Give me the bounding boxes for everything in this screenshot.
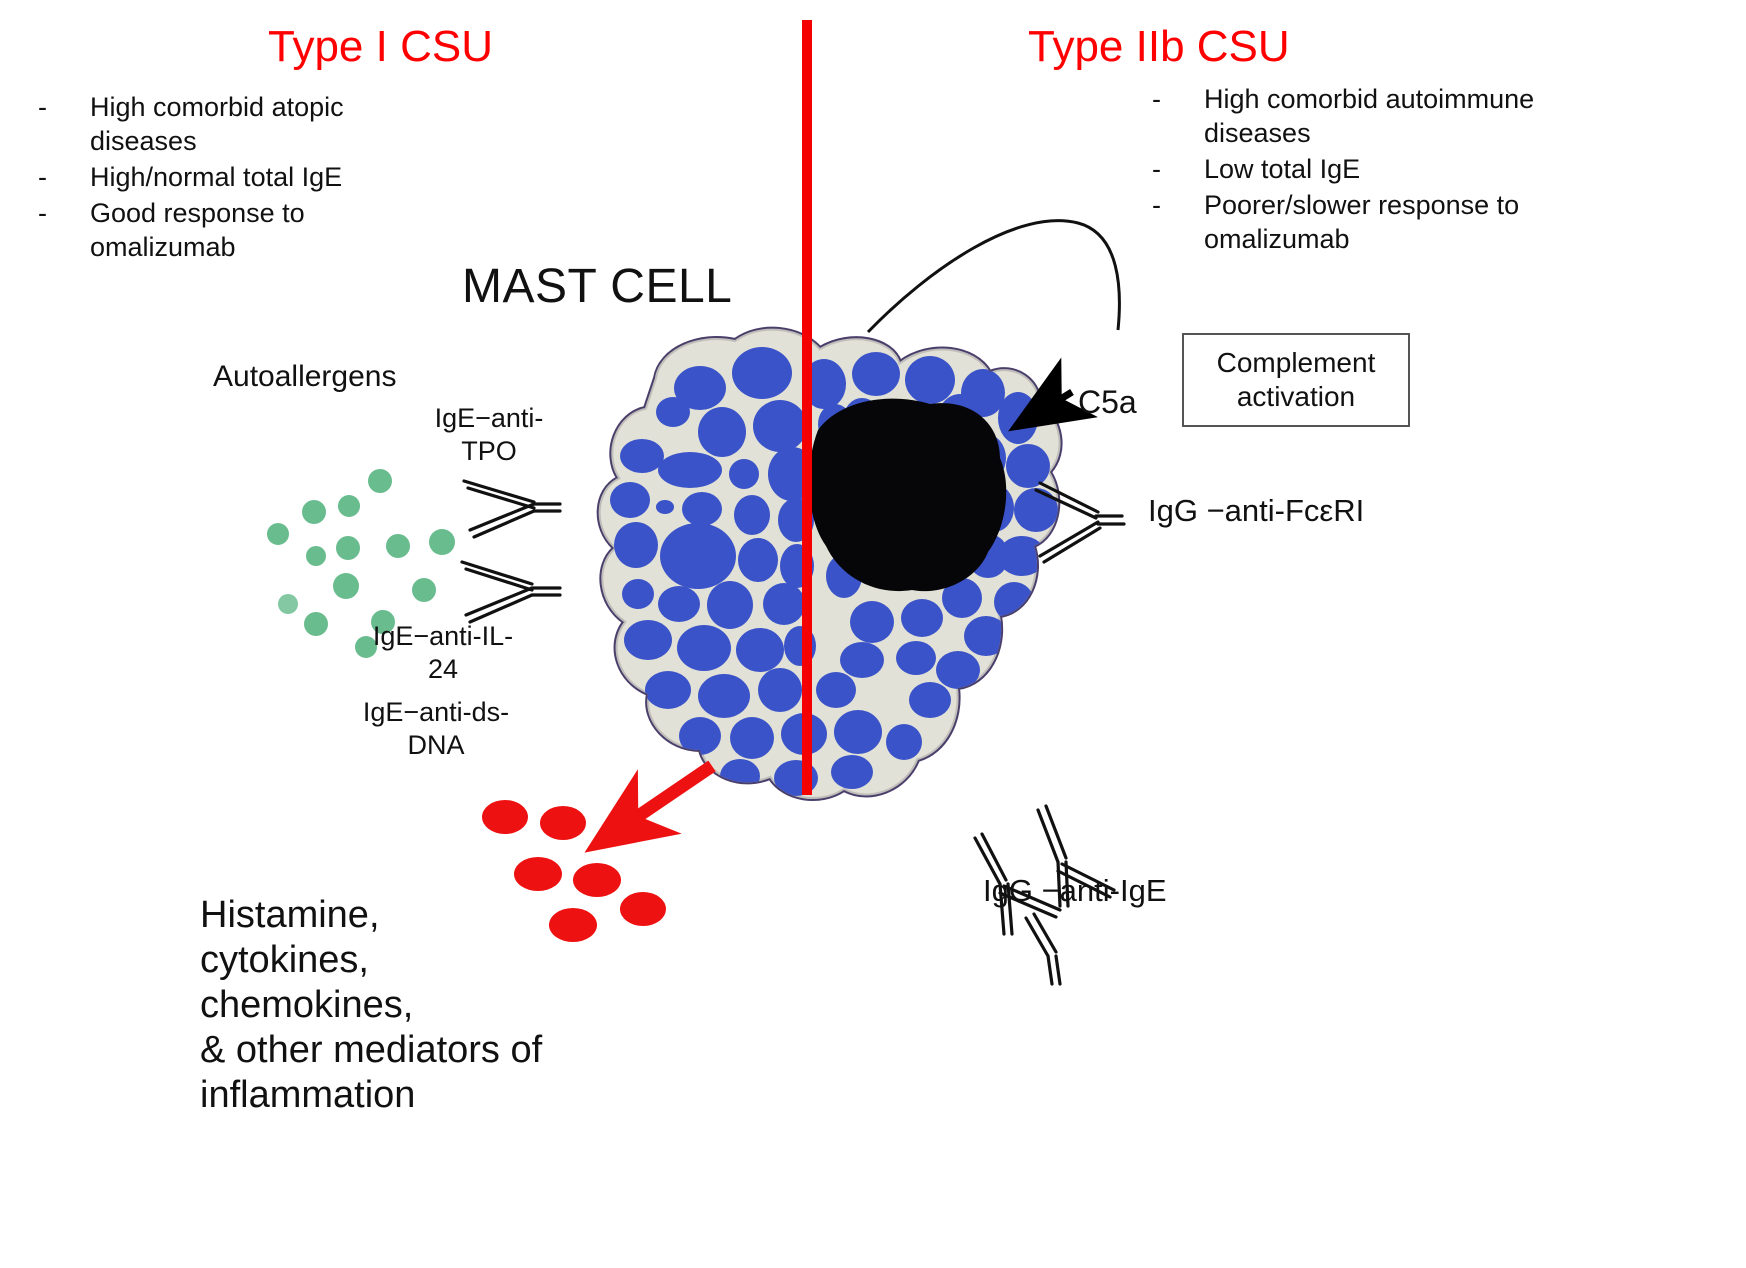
mast-cell-granules: [610, 347, 1058, 796]
bullet-marker: -: [38, 160, 90, 194]
list-item: - High comorbid autoimmune diseases: [1152, 82, 1572, 150]
type-1-csu-title: Type I CSU: [268, 22, 493, 72]
igg-anti-fceri-receptor: [1036, 483, 1124, 562]
membrane-connector-curve: [868, 221, 1119, 332]
mast-cell-body: [599, 329, 1061, 799]
c5a-label: C5a: [1078, 386, 1137, 419]
bullet-text: High/normal total IgE: [90, 160, 418, 194]
bullet-marker: -: [38, 196, 90, 230]
mast-cell-label: MAST CELL: [462, 270, 732, 303]
igg-anti-ige-label: IgG −anti-IgE: [983, 874, 1167, 907]
list-item: - Good response to omalizumab: [38, 196, 418, 264]
bullet-text: High comorbid atopic diseases: [90, 90, 418, 158]
c5a-arrow: [1020, 392, 1072, 424]
list-item: - Low total IgE: [1152, 152, 1572, 186]
list-item: - High comorbid atopic diseases: [38, 90, 418, 158]
ige-anti-dsdna-label: IgE−anti-ds- DNA: [356, 696, 516, 762]
list-item: - High/normal total IgE: [38, 160, 418, 194]
type-divider-line: [802, 20, 812, 795]
bullet-marker: -: [1152, 152, 1204, 186]
list-item: - Poorer/slower response to omalizumab: [1152, 188, 1572, 256]
bullet-text: High comorbid autoimmune diseases: [1204, 82, 1572, 150]
type-2b-csu-title: Type IIb CSU: [1028, 22, 1290, 72]
bullet-marker: -: [1152, 188, 1204, 222]
complement-activation-box: Complement activation: [1182, 333, 1410, 427]
type-2b-feature-list: - High comorbid autoimmune diseases - Lo…: [1152, 82, 1572, 258]
mediators-label: Histamine, cytokines, chemokines, & othe…: [200, 893, 542, 1118]
ige-anti-tpo-label: IgE−anti- TPO: [424, 402, 554, 468]
type-1-feature-list: - High comorbid atopic diseases - High/n…: [38, 90, 418, 266]
bullet-marker: -: [38, 90, 90, 124]
bullet-marker: -: [1152, 82, 1204, 116]
bullet-text: Poorer/slower response to omalizumab: [1204, 188, 1572, 256]
degranulation-arrow: [606, 766, 712, 838]
bullet-text: Low total IgE: [1204, 152, 1572, 186]
igg-anti-fceri-label: IgG −anti-FcεRI: [1148, 494, 1364, 527]
ige-anti-il24-label: IgE−anti-IL- 24: [358, 620, 528, 686]
bullet-text: Good response to omalizumab: [90, 196, 418, 264]
autoallergens-label: Autoallergens: [213, 360, 396, 393]
mast-cell-nucleus: [809, 399, 1006, 592]
ige-receptor-group-left: [462, 481, 560, 622]
diagram-canvas: Type I CSU Type IIb CSU - High comorbid …: [0, 0, 1746, 1268]
